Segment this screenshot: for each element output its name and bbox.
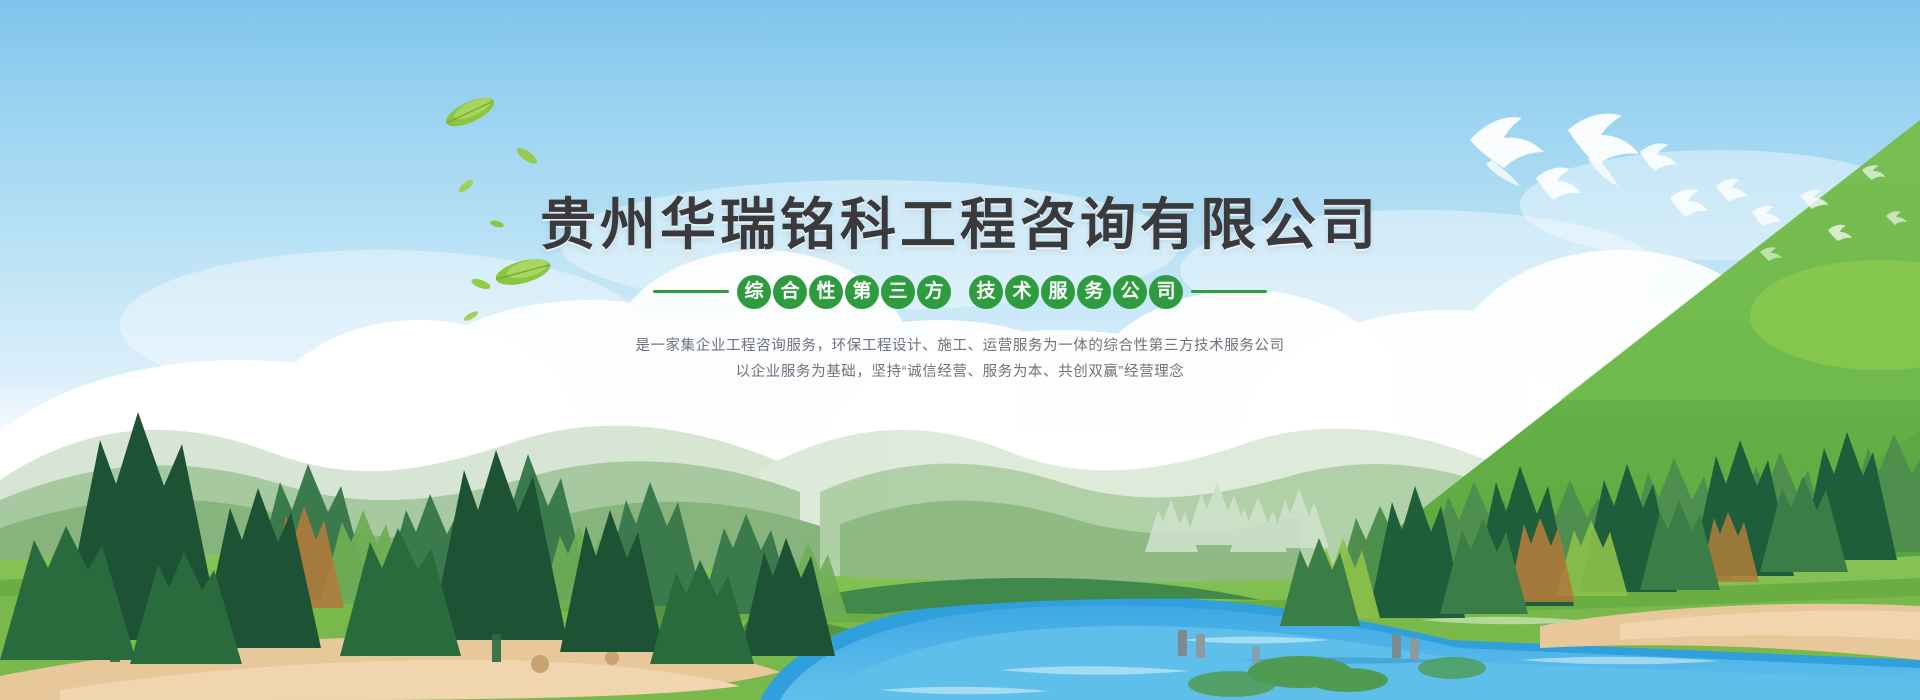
slogan-badge-3: 第: [845, 275, 879, 309]
description-line-1: 是一家集企业工程咨询服务，环保工程设计、施工、运营服务为一体的综合性第三方技术服…: [410, 333, 1510, 359]
slogan-badge-1: 合: [773, 275, 807, 309]
dash-right-icon: [1191, 290, 1267, 293]
slogan-badge-row: 综合性第三方技术服务公司: [410, 275, 1510, 309]
company-description: 是一家集企业工程咨询服务，环保工程设计、施工、运营服务为一体的综合性第三方技术服…: [410, 333, 1510, 385]
hero-banner: 贵州华瑞铭科工程咨询有限公司 综合性第三方技术服务公司 是一家集企业工程咨询服务…: [0, 0, 1920, 700]
slogan-badge-12: 司: [1149, 275, 1183, 309]
slogan-badge-11: 公: [1113, 275, 1147, 309]
slogan-badge-2: 性: [809, 275, 843, 309]
slogan-badge-8: 术: [1005, 275, 1039, 309]
slogan-badges: 综合性第三方技术服务公司: [736, 275, 1184, 309]
slogan-badge-9: 服: [1041, 275, 1075, 309]
slogan-badge-10: 务: [1077, 275, 1111, 309]
company-title: 贵州华瑞铭科工程咨询有限公司: [410, 196, 1510, 255]
badge-gap: [953, 275, 967, 309]
description-line-2: 以企业服务为基础，坚持“诚信经营、服务为本、共创双赢”经营理念: [410, 359, 1510, 385]
slogan-badge-5: 方: [917, 275, 951, 309]
slogan-badge-7: 技: [969, 275, 1003, 309]
dash-left-icon: [653, 290, 729, 293]
slogan-badge-0: 综: [737, 275, 771, 309]
slogan-badge-4: 三: [881, 275, 915, 309]
